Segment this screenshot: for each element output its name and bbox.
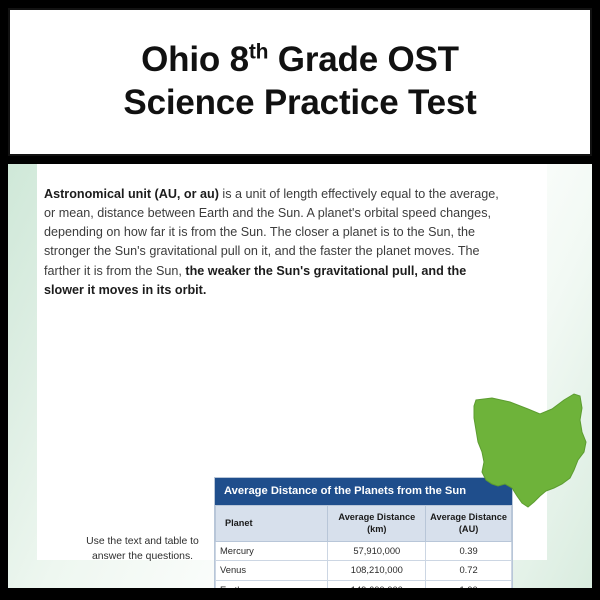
title-line-1-prefix: Ohio 8 bbox=[141, 40, 249, 79]
column-header-au-line1: Average Distance bbox=[430, 512, 507, 522]
table-title: Average Distance of the Planets from the… bbox=[215, 478, 512, 505]
cell-distance-au: 0.72 bbox=[426, 561, 512, 580]
column-header-km-line2: (km) bbox=[367, 524, 386, 534]
column-header-planet: Planet bbox=[216, 506, 328, 542]
table-row: Earth 149,600,000 1.00 bbox=[216, 580, 512, 588]
title-line-1-suffix: Grade OST bbox=[268, 40, 459, 79]
cell-planet: Earth bbox=[216, 580, 328, 588]
cell-planet: Venus bbox=[216, 561, 328, 580]
title-card: Ohio 8th Grade OST Science Practice Test bbox=[8, 8, 592, 156]
column-header-au-line2: (AU) bbox=[459, 524, 478, 534]
table-row: Venus 108,210,000 0.72 bbox=[216, 561, 512, 580]
cell-distance-km: 108,210,000 bbox=[328, 561, 426, 580]
cell-distance-km: 149,600,000 bbox=[328, 580, 426, 588]
table-header-row: Planet Average Distance (km) Average Dis… bbox=[216, 506, 512, 542]
cell-distance-au: 1.00 bbox=[426, 580, 512, 588]
planet-distance-table: Average Distance of the Planets from the… bbox=[214, 477, 513, 588]
cell-distance-km: 57,910,000 bbox=[328, 542, 426, 561]
column-header-planet-line1: Planet bbox=[225, 518, 253, 528]
table-row: Mercury 57,910,000 0.39 bbox=[216, 542, 512, 561]
product-thumbnail: Ohio 8th Grade OST Science Practice Test… bbox=[0, 0, 600, 600]
passage-text: Astronomical unit (AU, or au) is a unit … bbox=[44, 185, 499, 300]
column-header-distance-km: Average Distance (km) bbox=[328, 506, 426, 542]
instruction-text: Use the text and table to answer the que… bbox=[70, 534, 215, 564]
preview-panel: Astronomical unit (AU, or au) is a unit … bbox=[8, 164, 592, 588]
title-line-1: Ohio 8th Grade OST bbox=[141, 39, 459, 82]
title-line-2: Science Practice Test bbox=[123, 82, 476, 125]
column-header-km-line1: Average Distance bbox=[338, 512, 415, 522]
cell-distance-au: 0.39 bbox=[426, 542, 512, 561]
table: Planet Average Distance (km) Average Dis… bbox=[215, 505, 512, 588]
passage-bold-lead: Astronomical unit (AU, or au) bbox=[44, 187, 219, 201]
table-head: Planet Average Distance (km) Average Dis… bbox=[216, 506, 512, 542]
ohio-state-map-icon bbox=[470, 390, 592, 512]
title-ordinal-suffix: th bbox=[249, 41, 268, 64]
cell-planet: Mercury bbox=[216, 542, 328, 561]
table-body: Mercury 57,910,000 0.39 Venus 108,210,00… bbox=[216, 542, 512, 589]
